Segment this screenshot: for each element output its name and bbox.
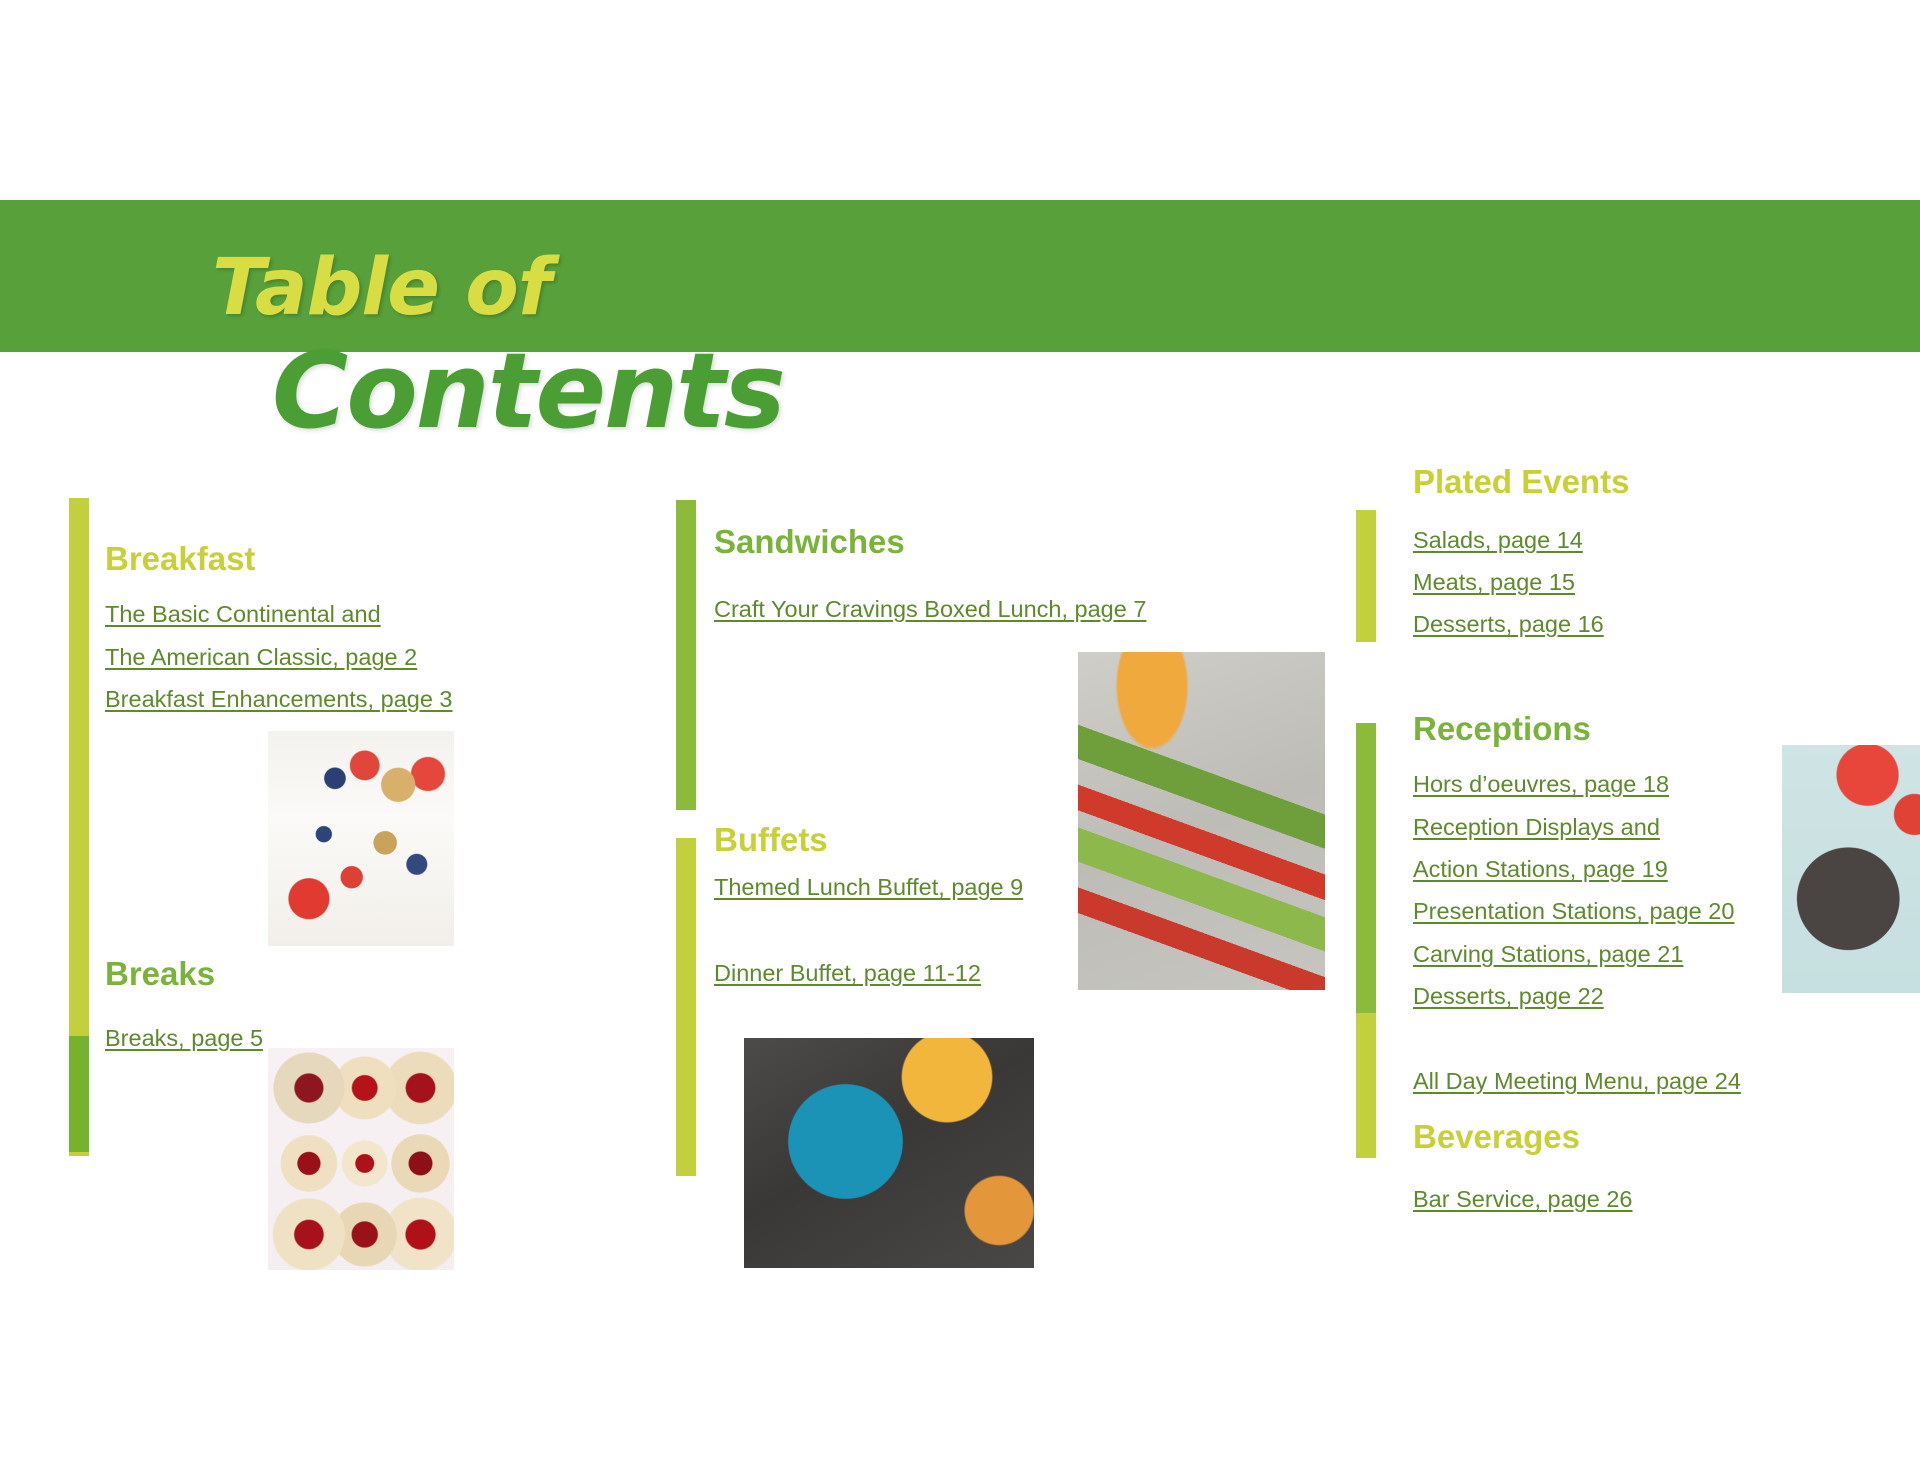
section-heading-beverages: Beverages [1413, 1118, 1580, 1156]
cookies-photo [268, 1048, 454, 1270]
link-presentation-stations[interactable]: Presentation Stations, page 20 [1413, 898, 1734, 925]
link-action-stations[interactable]: Action Stations, page 19 [1413, 856, 1668, 883]
smoothie-photo [1782, 745, 1920, 993]
link-desserts-receptions[interactable]: Desserts, page 22 [1413, 983, 1604, 1010]
link-american-classic[interactable]: The American Classic, page 2 [105, 644, 417, 671]
link-meats[interactable]: Meats, page 15 [1413, 569, 1575, 596]
section-heading-plated-events: Plated Events [1413, 463, 1629, 501]
link-basic-continental[interactable]: The Basic Continental and [105, 601, 381, 628]
link-desserts-plated[interactable]: Desserts, page 16 [1413, 611, 1604, 638]
accent-bar-sandwiches [676, 500, 696, 810]
accent-bar-breaks [69, 1036, 89, 1152]
link-hors-doeuvres[interactable]: Hors d’oeuvres, page 18 [1413, 771, 1669, 798]
section-heading-receptions: Receptions [1413, 710, 1591, 748]
link-all-day-meeting-menu[interactable]: All Day Meeting Menu, page 24 [1413, 1068, 1741, 1095]
section-heading-breaks: Breaks [105, 955, 215, 993]
link-carving-stations[interactable]: Carving Stations, page 21 [1413, 941, 1683, 968]
link-themed-lunch-buffet[interactable]: Themed Lunch Buffet, page 9 [714, 874, 1023, 901]
sandwich-photo [1078, 652, 1325, 990]
accent-bar-plated-events [1356, 510, 1376, 642]
link-breakfast-enhancements[interactable]: Breakfast Enhancements, page 3 [105, 686, 453, 713]
link-bar-service[interactable]: Bar Service, page 26 [1413, 1186, 1632, 1213]
link-salads[interactable]: Salads, page 14 [1413, 527, 1583, 554]
link-reception-displays[interactable]: Reception Displays and [1413, 814, 1660, 841]
page-title-line-2: Contents [272, 330, 784, 452]
page-title-line-1: Table of [212, 243, 551, 333]
link-breaks[interactable]: Breaks, page 5 [105, 1025, 263, 1052]
salad-bowl-photo [744, 1038, 1034, 1268]
accent-bar-buffets [676, 838, 696, 1176]
link-craft-your-cravings[interactable]: Craft Your Cravings Boxed Lunch, page 7 [714, 596, 1146, 623]
section-heading-sandwiches: Sandwiches [714, 523, 905, 561]
accent-bar-receptions [1356, 723, 1376, 1013]
link-dinner-buffet[interactable]: Dinner Buffet, page 11-12 [714, 960, 981, 987]
accent-bar-beverages [1356, 1013, 1376, 1158]
section-heading-buffets: Buffets [714, 821, 828, 859]
section-heading-breakfast: Breakfast [105, 540, 255, 578]
table-of-contents-slide: Table of Contents Breakfast The Basic Co… [0, 0, 1920, 1484]
parfait-photo [268, 731, 454, 946]
